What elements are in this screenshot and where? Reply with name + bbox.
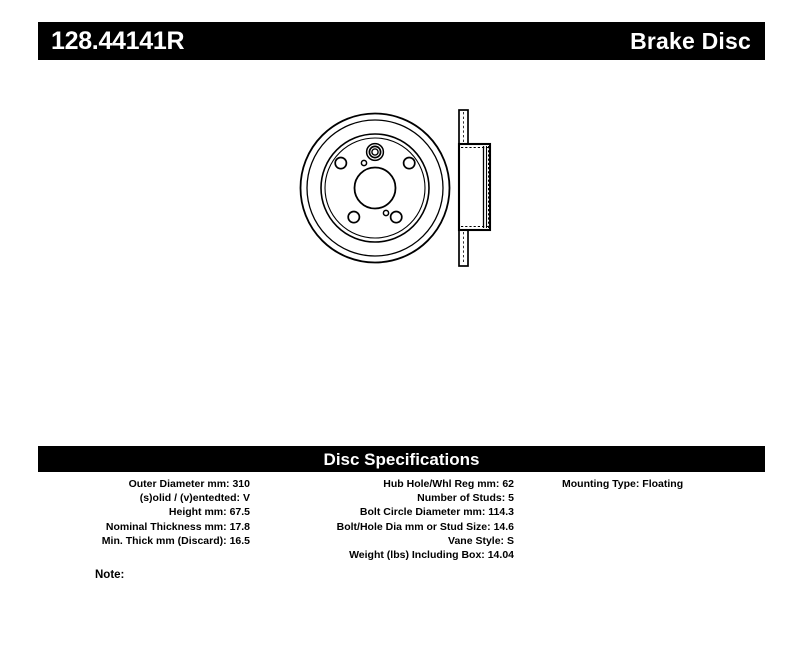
spec-row: Hub Hole/Whl Reg mm: 62 — [258, 477, 514, 491]
stud-hole — [335, 158, 346, 169]
spec-value: 67.5 — [230, 506, 250, 518]
spec-label: (s)olid / (v)entedted: — [140, 492, 240, 504]
disc-specifications-title-bar: Disc Specifications — [38, 446, 765, 472]
spec-row: Vane Style: S — [258, 534, 514, 548]
spec-value: 114.3 — [488, 506, 514, 518]
spec-label: Mounting Type: — [562, 478, 639, 490]
spec-value: 16.5 — [230, 535, 250, 547]
alignment-hole — [383, 210, 388, 215]
stud-hole — [404, 158, 415, 169]
spec-row: Number of Studs: 5 — [258, 491, 514, 505]
spec-value: 17.8 — [230, 521, 250, 533]
spec-row: (s)olid / (v)entedted: V — [38, 491, 250, 505]
spec-value: 62 — [502, 478, 514, 490]
spec-value: 310 — [232, 478, 250, 490]
spec-column-right: Mounting Type: Floating — [514, 477, 765, 562]
brake-disc-edge-cross-section-view — [459, 110, 490, 266]
spec-value: S — [507, 535, 514, 547]
spec-label: Weight (lbs) Including Box: — [349, 549, 485, 561]
spec-row: Outer Diameter mm: 310 — [38, 477, 250, 491]
spec-label: Nominal Thickness mm: — [106, 521, 227, 533]
product-type-title: Brake Disc — [630, 30, 751, 53]
spec-row: Height mm: 67.5 — [38, 505, 250, 519]
spec-row: Bolt/Hole Dia mm or Stud Size: 14.6 — [258, 520, 514, 534]
spec-label: Height mm: — [169, 506, 227, 518]
brake-disc-face-view — [301, 114, 450, 263]
spec-label: Bolt/Hole Dia mm or Stud Size: — [337, 521, 491, 533]
spec-label: Hub Hole/Whl Reg mm: — [383, 478, 499, 490]
spec-label: Outer Diameter mm: — [129, 478, 230, 490]
note-line: Note: — [95, 570, 124, 582]
spec-label: Bolt Circle Diameter mm: — [360, 506, 485, 518]
spec-column-left: Outer Diameter mm: 310 (s)olid / (v)ente… — [38, 477, 250, 562]
stud-hole — [369, 146, 380, 157]
alignment-hole — [361, 160, 366, 165]
part-number: 128.44141R — [51, 29, 184, 54]
header-bar: 128.44141R Brake Disc — [38, 22, 765, 60]
spec-value: Floating — [642, 478, 683, 490]
spec-row: Weight (lbs) Including Box: 14.04 — [258, 548, 514, 562]
spec-label: Number of Studs: — [417, 492, 505, 504]
spec-value: 14.6 — [494, 521, 514, 533]
disc-specifications-title: Disc Specifications — [324, 451, 480, 468]
spec-label: Min. Thick mm (Discard): — [102, 535, 227, 547]
disc-specifications-table: Outer Diameter mm: 310 (s)olid / (v)ente… — [38, 477, 765, 562]
spec-value: V — [243, 492, 250, 504]
stud-hole — [391, 212, 402, 223]
spec-label: Vane Style: — [448, 535, 504, 547]
spec-value: 14.04 — [488, 549, 514, 561]
spec-row: Min. Thick mm (Discard): 16.5 — [38, 534, 250, 548]
spec-column-center: Hub Hole/Whl Reg mm: 62 Number of Studs:… — [250, 477, 514, 562]
product-illustration — [0, 70, 800, 410]
spec-row: Nominal Thickness mm: 17.8 — [38, 520, 250, 534]
stud-hole — [348, 212, 359, 223]
spec-row: Mounting Type: Floating — [562, 477, 765, 491]
note-label: Note: — [95, 569, 124, 581]
spec-row: Bolt Circle Diameter mm: 114.3 — [258, 505, 514, 519]
